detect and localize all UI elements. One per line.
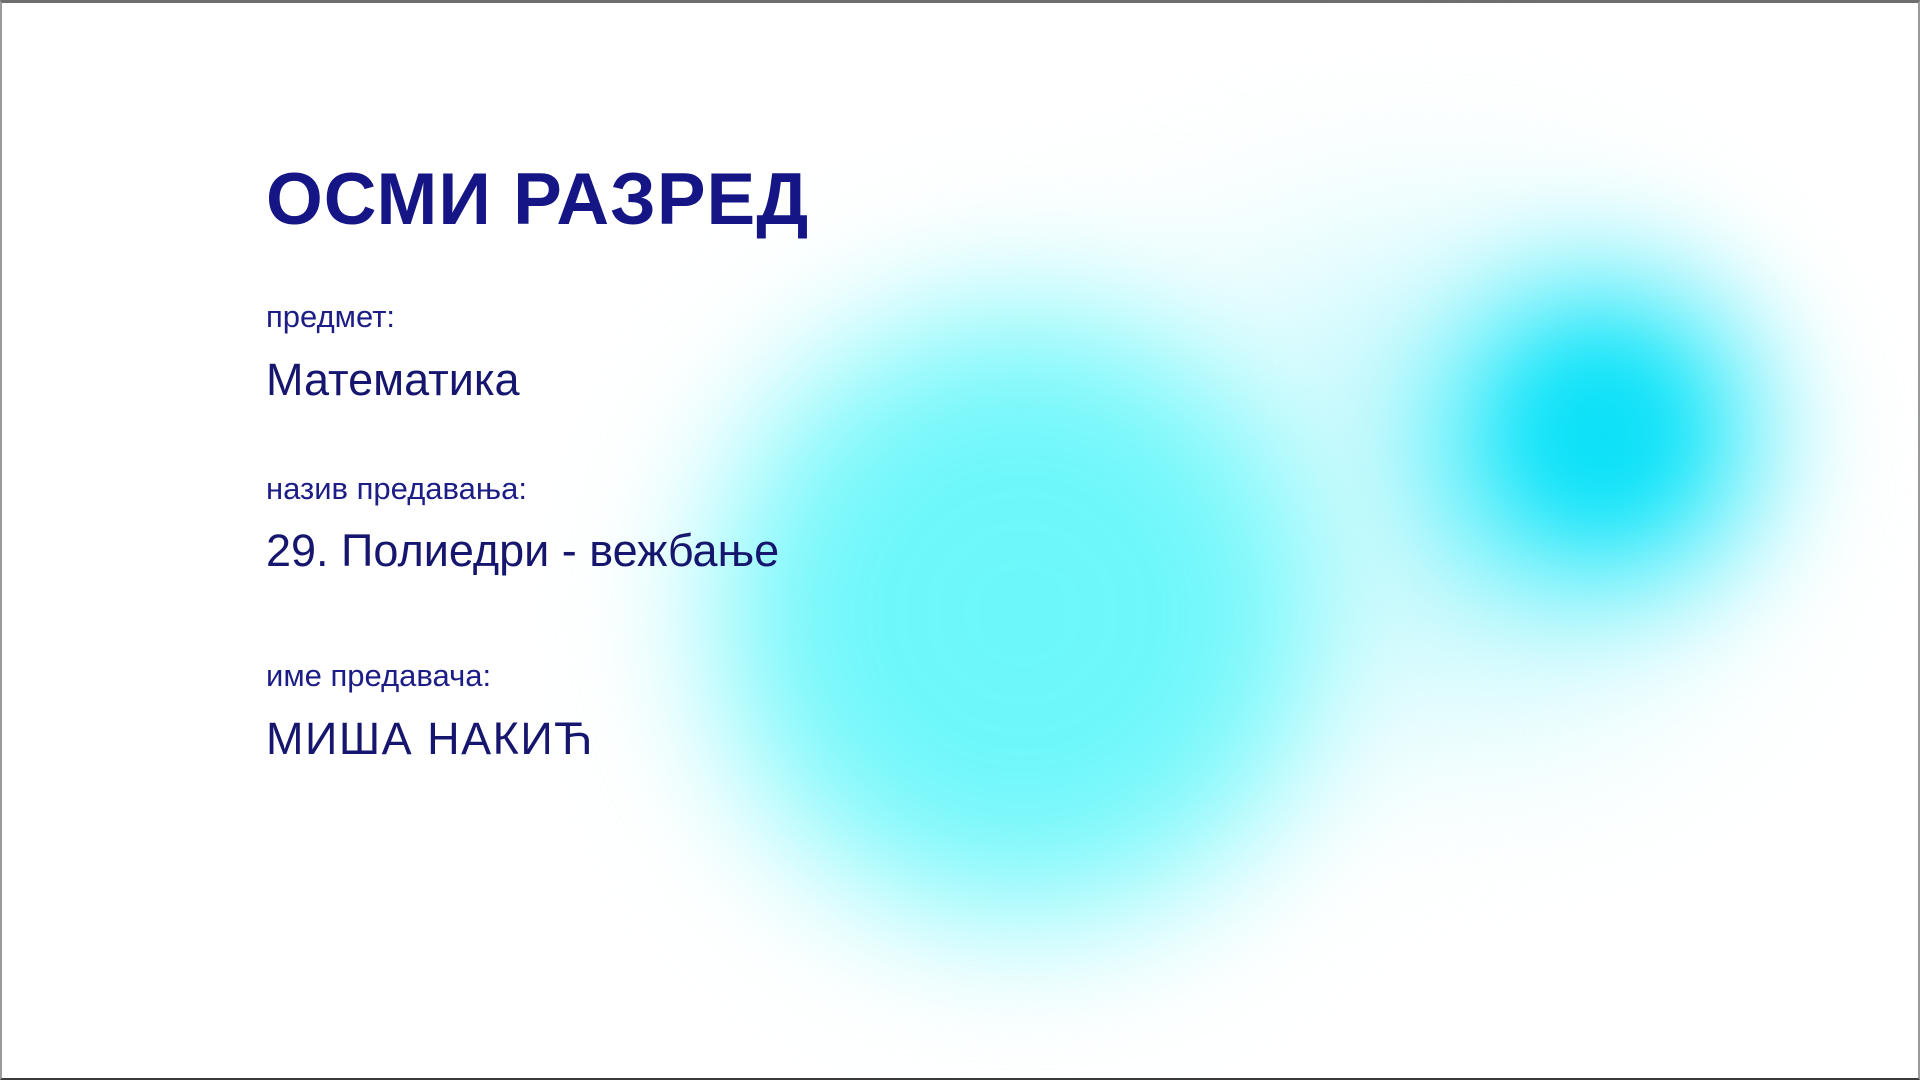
- subject-label: предмет:: [266, 298, 1466, 337]
- lecturer-field-group: име предавача: МИША НАКИЋ: [266, 657, 1466, 767]
- slide-text-block: ОСМИ РАЗРЕД предмет: Математика назив пр…: [266, 163, 1466, 767]
- subject-value: Математика: [266, 353, 1466, 408]
- subject-field-group: предмет: Математика: [266, 298, 1466, 408]
- lecturer-label: име предавача:: [266, 657, 1466, 696]
- lecturer-value: МИША НАКИЋ: [266, 712, 1466, 767]
- lecture-title-label: назив предавања:: [266, 470, 1466, 509]
- lecture-title-slide: ОСМИ РАЗРЕД предмет: Математика назив пр…: [0, 0, 1920, 1080]
- lecture-field-group: назив предавања: 29. Полиедри - вежбање: [266, 470, 1466, 580]
- lecture-title-value: 29. Полиедри - вежбање: [266, 524, 1466, 579]
- page-title: ОСМИ РАЗРЕД: [266, 163, 1466, 236]
